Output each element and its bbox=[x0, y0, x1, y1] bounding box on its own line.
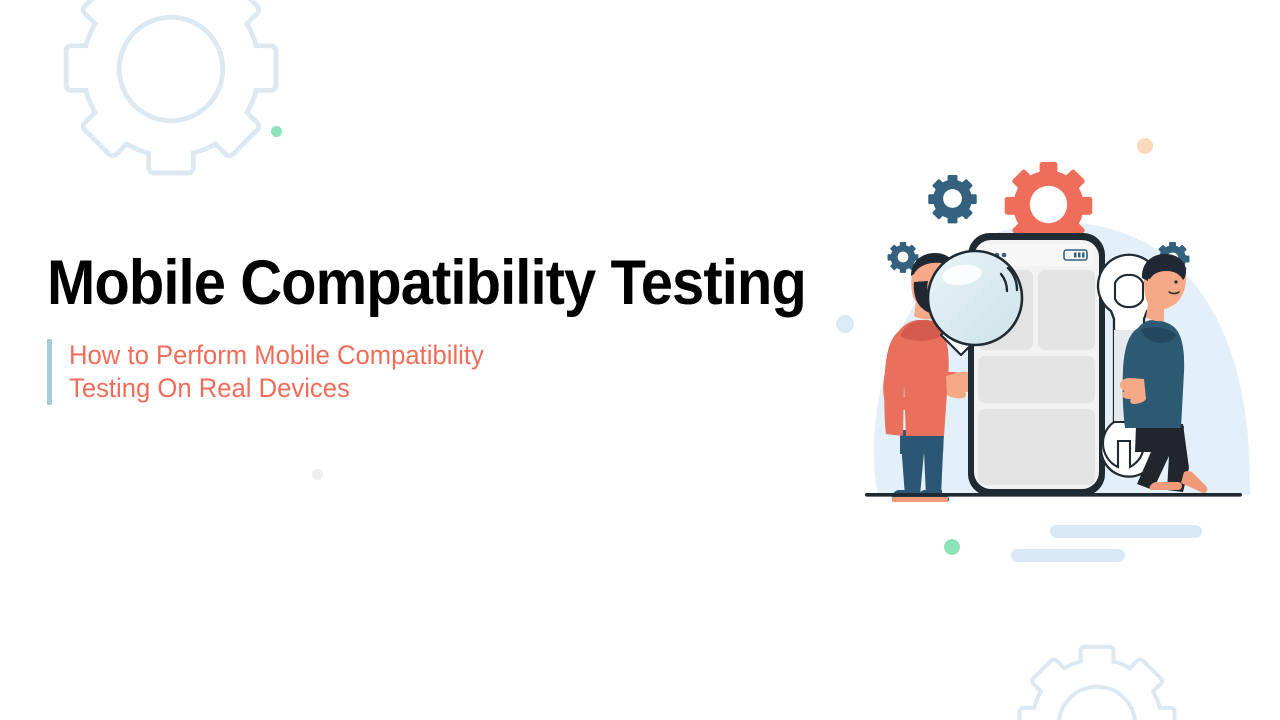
ground-line bbox=[865, 493, 1242, 497]
dot-green-top bbox=[271, 126, 282, 137]
page-title: Mobile Compatibility Testing bbox=[47, 252, 746, 315]
gear-outline-icon bbox=[1012, 640, 1182, 720]
slide-canvas: Mobile Compatibility Testing How to Perf… bbox=[0, 0, 1280, 720]
subtitle-line-1: How to Perform Mobile Compatibility bbox=[69, 340, 484, 370]
title-block: Mobile Compatibility Testing How to Perf… bbox=[47, 252, 807, 405]
dot-gray-mid bbox=[312, 469, 323, 480]
placeholder-bar-long bbox=[1050, 525, 1202, 538]
gear-dark-large bbox=[928, 175, 976, 223]
placeholder-bar-short bbox=[1011, 549, 1125, 562]
accent-bar bbox=[47, 339, 52, 405]
gear-outline-icon bbox=[56, 0, 286, 189]
subtitle-block: How to Perform Mobile Compatibility Test… bbox=[47, 339, 807, 405]
hero-illustration bbox=[838, 150, 1268, 580]
subtitle-line-2: Testing On Real Devices bbox=[69, 373, 350, 403]
page-subtitle: How to Perform Mobile Compatibility Test… bbox=[69, 339, 484, 405]
